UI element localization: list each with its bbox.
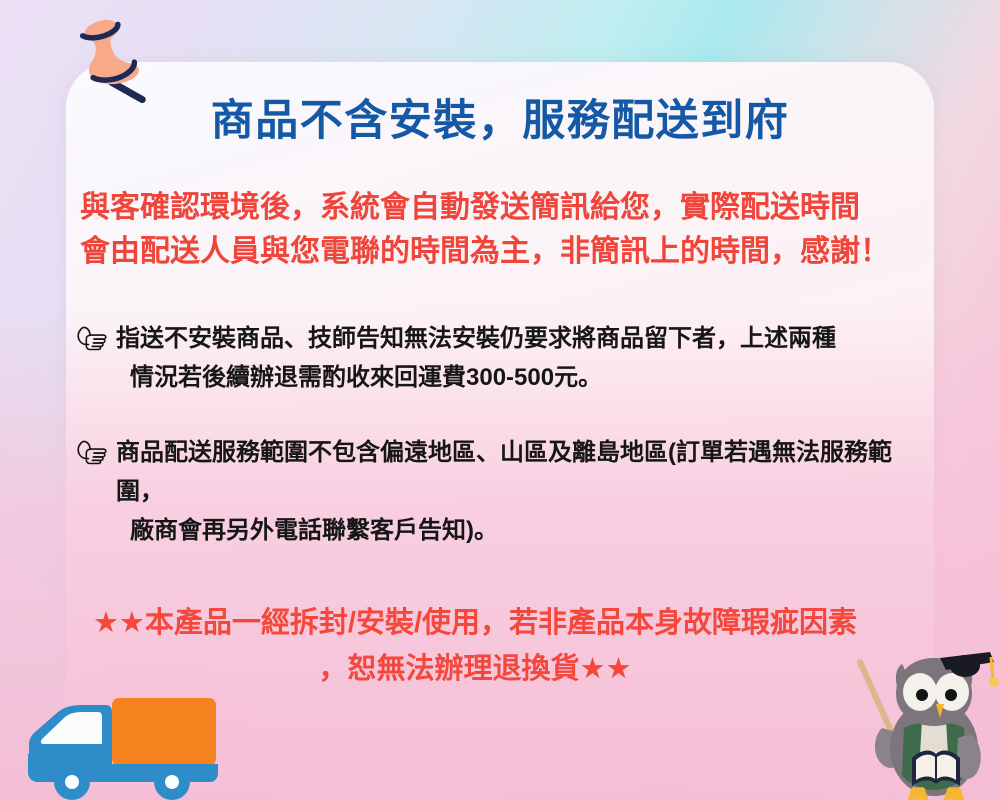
bullet-1-line-1: 指送不安裝商品、技師告知無法安裝仍要求將商品留下者，上述兩種 [116, 325, 836, 352]
list-item-text: 商品配送服務範圍不包含偏遠地區、山區及離島地區(訂單若遇無法服務範圍， 廠商會再… [116, 434, 918, 551]
bullet-list: 指送不安裝商品、技師告知無法安裝仍要求將商品留下者，上述兩種 情況若後續辦退需酌… [76, 320, 918, 586]
push-pin-icon [62, 8, 182, 118]
footnote-line-1: ★★本產品一經拆封/安裝/使用，若非產品本身故障瑕疵因素 [66, 600, 926, 646]
delivery-truck-icon [14, 688, 234, 800]
intro-notice: 與客確認環境後，系統會自動發送簡訊給您，實際配送時間 會由配送人員與您電聯的時間… [74, 186, 926, 275]
return-policy-footnote: ★★本產品一經拆封/安裝/使用，若非產品本身故障瑕疵因素 ，恕無法辦理退換貨★★ [66, 600, 926, 693]
bullet-2-line-2: 廠商會再另外電話聯繫客戶告知)。 [116, 512, 918, 551]
graduate-owl-icon [852, 650, 1000, 800]
pointing-hand-right-icon [76, 322, 116, 358]
list-item: 商品配送服務範圍不包含偏遠地區、山區及離島地區(訂單若遇無法服務範圍， 廠商會再… [76, 434, 918, 551]
pointing-hand-right-icon [76, 436, 116, 472]
footnote-line-2: ，恕無法辦理退換貨★★ [66, 646, 926, 692]
list-item-text: 指送不安裝商品、技師告知無法安裝仍要求將商品留下者，上述兩種 情況若後續辦退需酌… [116, 320, 918, 398]
promo-poster: 商品不含安裝，服務配送到府 與客確認環境後，系統會自動發送簡訊給您，實際配送時間… [0, 0, 1000, 800]
intro-line-1: 與客確認環境後，系統會自動發送簡訊給您，實際配送時間 [80, 186, 920, 230]
bullet-1-line-2: 情況若後續辦退需酌收來回運費300-500元。 [116, 359, 918, 398]
card-blob-right [454, 732, 874, 800]
list-item: 指送不安裝商品、技師告知無法安裝仍要求將商品留下者，上述兩種 情況若後續辦退需酌… [76, 320, 918, 398]
bullet-2-line-1: 商品配送服務範圍不包含偏遠地區、山區及離島地區(訂單若遇無法服務範圍， [116, 439, 892, 505]
page-title: 商品不含安裝，服務配送到府 [66, 98, 934, 145]
intro-line-2: 會由配送人員與您電聯的時間為主，非簡訊上的時間，感謝！ [80, 230, 920, 274]
